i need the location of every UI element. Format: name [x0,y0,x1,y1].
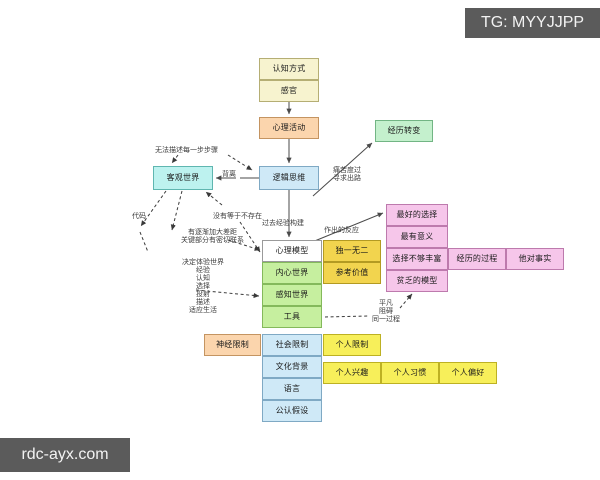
edge-label-tongkudugu: 痛苦度过 寻求出路 [333,166,361,182]
node-renzhifangshi[interactable]: 认知方式 [259,58,319,80]
watermark-top-right: TG: MYYJJPP [465,8,600,38]
node-cankaojiazhi[interactable]: 参考价值 [323,262,381,284]
node-keguanshijie[interactable]: 客观世界 [153,166,213,190]
node-jinglizhuanbian[interactable]: 经历转变 [375,120,433,142]
node-duyiwuer[interactable]: 独一无二 [323,240,381,262]
edge-label-wufamiaoshu: 无法描述每一步步骤 [155,146,218,154]
node-gongrenjiashe[interactable]: 公认假设 [262,400,322,422]
edge-label-beili: 背离 [222,170,236,178]
node-zuiyouyiyi[interactable]: 最有意义 [386,226,448,248]
node-tadushishi[interactable]: 他对事实 [506,248,564,270]
node-shenjingxianzhi[interactable]: 神经限制 [204,334,261,356]
node-ganzhishijie[interactable]: 感知世界 [262,284,322,306]
node-wenhuabeijing[interactable]: 文化背景 [262,356,322,378]
edge-label-juedingtiyan: 决定体验世界 经验 认知 选择 投射 描述 适应生活 [182,258,224,314]
node-xinlihuodong[interactable]: 心理活动 [259,117,319,139]
node-ganguan[interactable]: 感官 [259,80,319,102]
node-gerenxingqu[interactable]: 个人兴趣 [323,362,381,384]
node-gongju[interactable]: 工具 [262,306,322,328]
node-zuihaodexuanze[interactable]: 最好的选择 [386,204,448,226]
node-yuyan[interactable]: 语言 [262,378,322,400]
edge-label-zuochudefanying: 作出的反应 [324,226,359,234]
node-shehuixianzhi[interactable]: 社会限制 [262,334,322,356]
edge-label-guoqujingyan: 过去经验构建 [262,219,304,227]
edge-label-meiyoudengyu: 没有等于不存在 [213,212,262,220]
watermark-bottom-left: rdc-ayx.com [0,438,130,472]
node-gerenxiguan[interactable]: 个人习惯 [381,362,439,384]
node-xinlimoxing[interactable]: 心理模型 [262,240,322,262]
edge-label-pingfan: 平凡 阻碍 同一过程 [372,299,400,323]
edge-label-daima: 代码 [132,212,146,220]
node-jinglideguocheng[interactable]: 经历的过程 [448,248,506,270]
node-gerenpianhao[interactable]: 个人偏好 [439,362,497,384]
node-neixinshijie[interactable]: 内心世界 [262,262,322,284]
diagram-canvas: 认知方式感官心理活动逻辑思维客观世界经历转变心理模型内心世界感知世界工具社会限制… [0,0,600,480]
edge-label-youzhujian: 有逐渐加大差距 关键部分有密切联系 [181,228,244,244]
node-pinfadmoxing[interactable]: 贫乏的模型 [386,270,448,292]
node-gerenxianzhi[interactable]: 个人限制 [323,334,381,356]
node-xuanzebugoufengfu[interactable]: 选择不够丰富 [386,248,448,270]
node-luojisiwei[interactable]: 逻辑思维 [259,166,319,190]
